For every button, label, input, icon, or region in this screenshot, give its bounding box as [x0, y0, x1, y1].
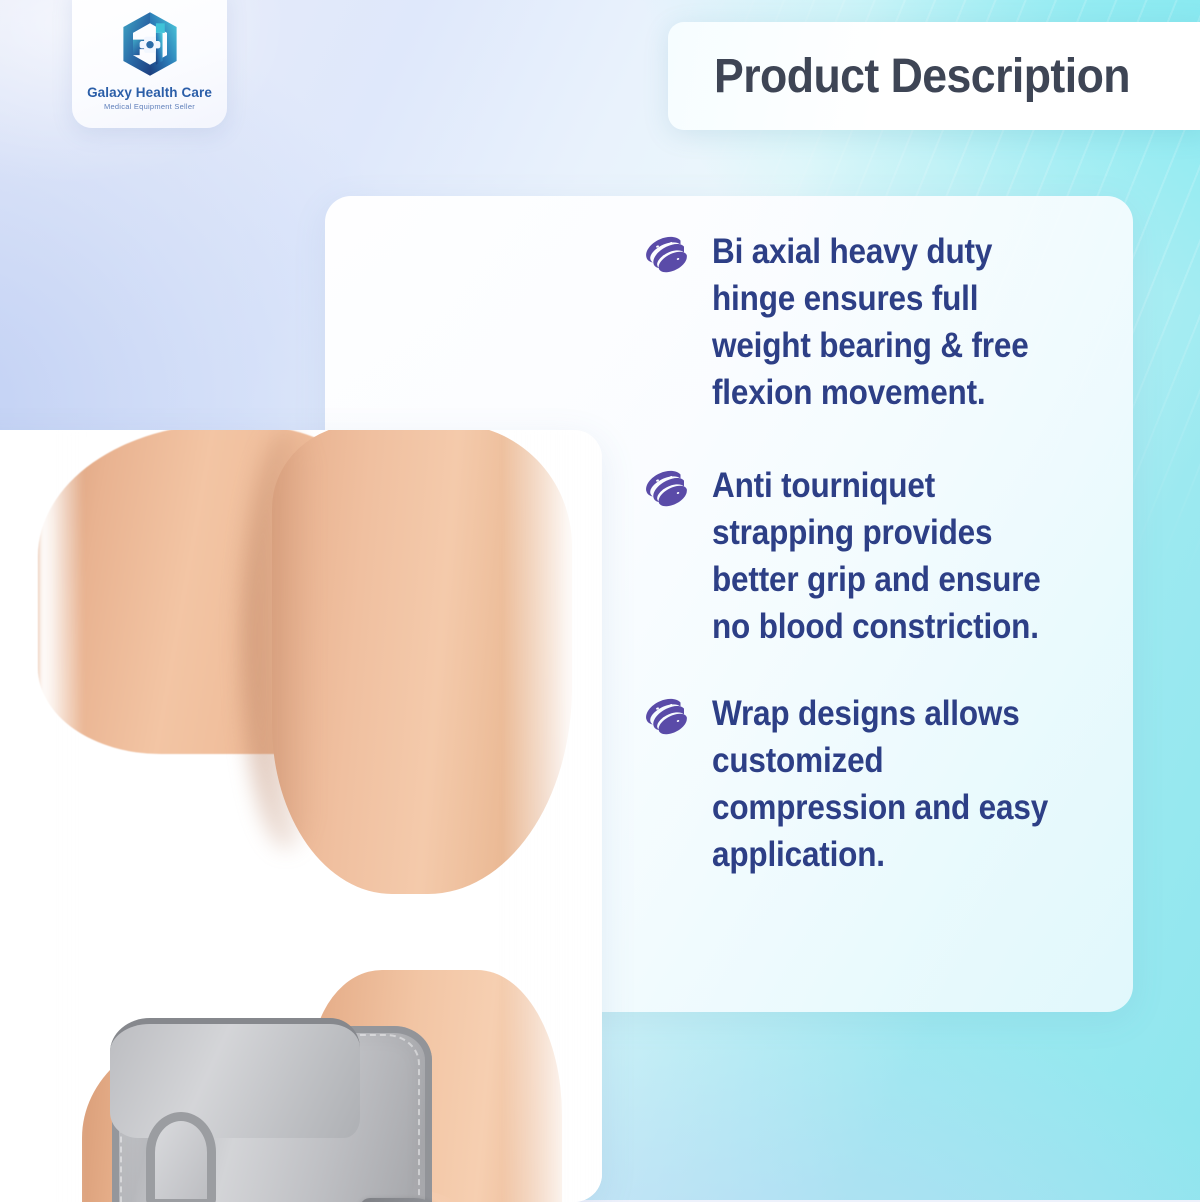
brand-name: Galaxy Health Care — [87, 85, 212, 100]
brace-hinge-loop — [146, 1112, 216, 1202]
list-item: Anti tourniquet strapping provides bette… — [640, 462, 1100, 650]
brace-top-flap — [110, 1018, 360, 1138]
ghc-hexagon-monogram-icon — [113, 10, 187, 78]
feature-text: Anti tourniquet strapping provides bette… — [712, 462, 1061, 650]
knee-brace: tynor SMALL — [90, 990, 480, 1202]
page-title: Product Description — [714, 49, 1130, 104]
list-item: Wrap designs allows customized compressi… — [640, 690, 1100, 878]
brand-logo-card: Galaxy Health Care Medical Equipment Sel… — [72, 0, 227, 128]
purple-globe-swirl-icon — [640, 696, 690, 738]
product-image-card: tynor SMALL — [0, 430, 602, 1202]
photo-left-fade — [38, 430, 84, 1202]
feature-text: Bi axial heavy duty hinge ensures full w… — [712, 228, 1061, 416]
feature-text: Wrap designs allows customized compressi… — [712, 690, 1061, 878]
brace-strap-tab — [360, 1198, 460, 1202]
purple-globe-swirl-icon — [640, 468, 690, 510]
brand-tagline: Medical Equipment Seller — [104, 102, 195, 111]
photo-right-fade — [502, 430, 602, 1202]
purple-globe-swirl-icon — [640, 234, 690, 276]
page-title-card: Product Description — [668, 22, 1200, 130]
feature-list: Bi axial heavy duty hinge ensures full w… — [640, 228, 1100, 878]
thigh-shadow — [242, 430, 332, 850]
product-photo: tynor SMALL — [0, 430, 602, 1202]
list-item: Bi axial heavy duty hinge ensures full w… — [640, 228, 1100, 416]
